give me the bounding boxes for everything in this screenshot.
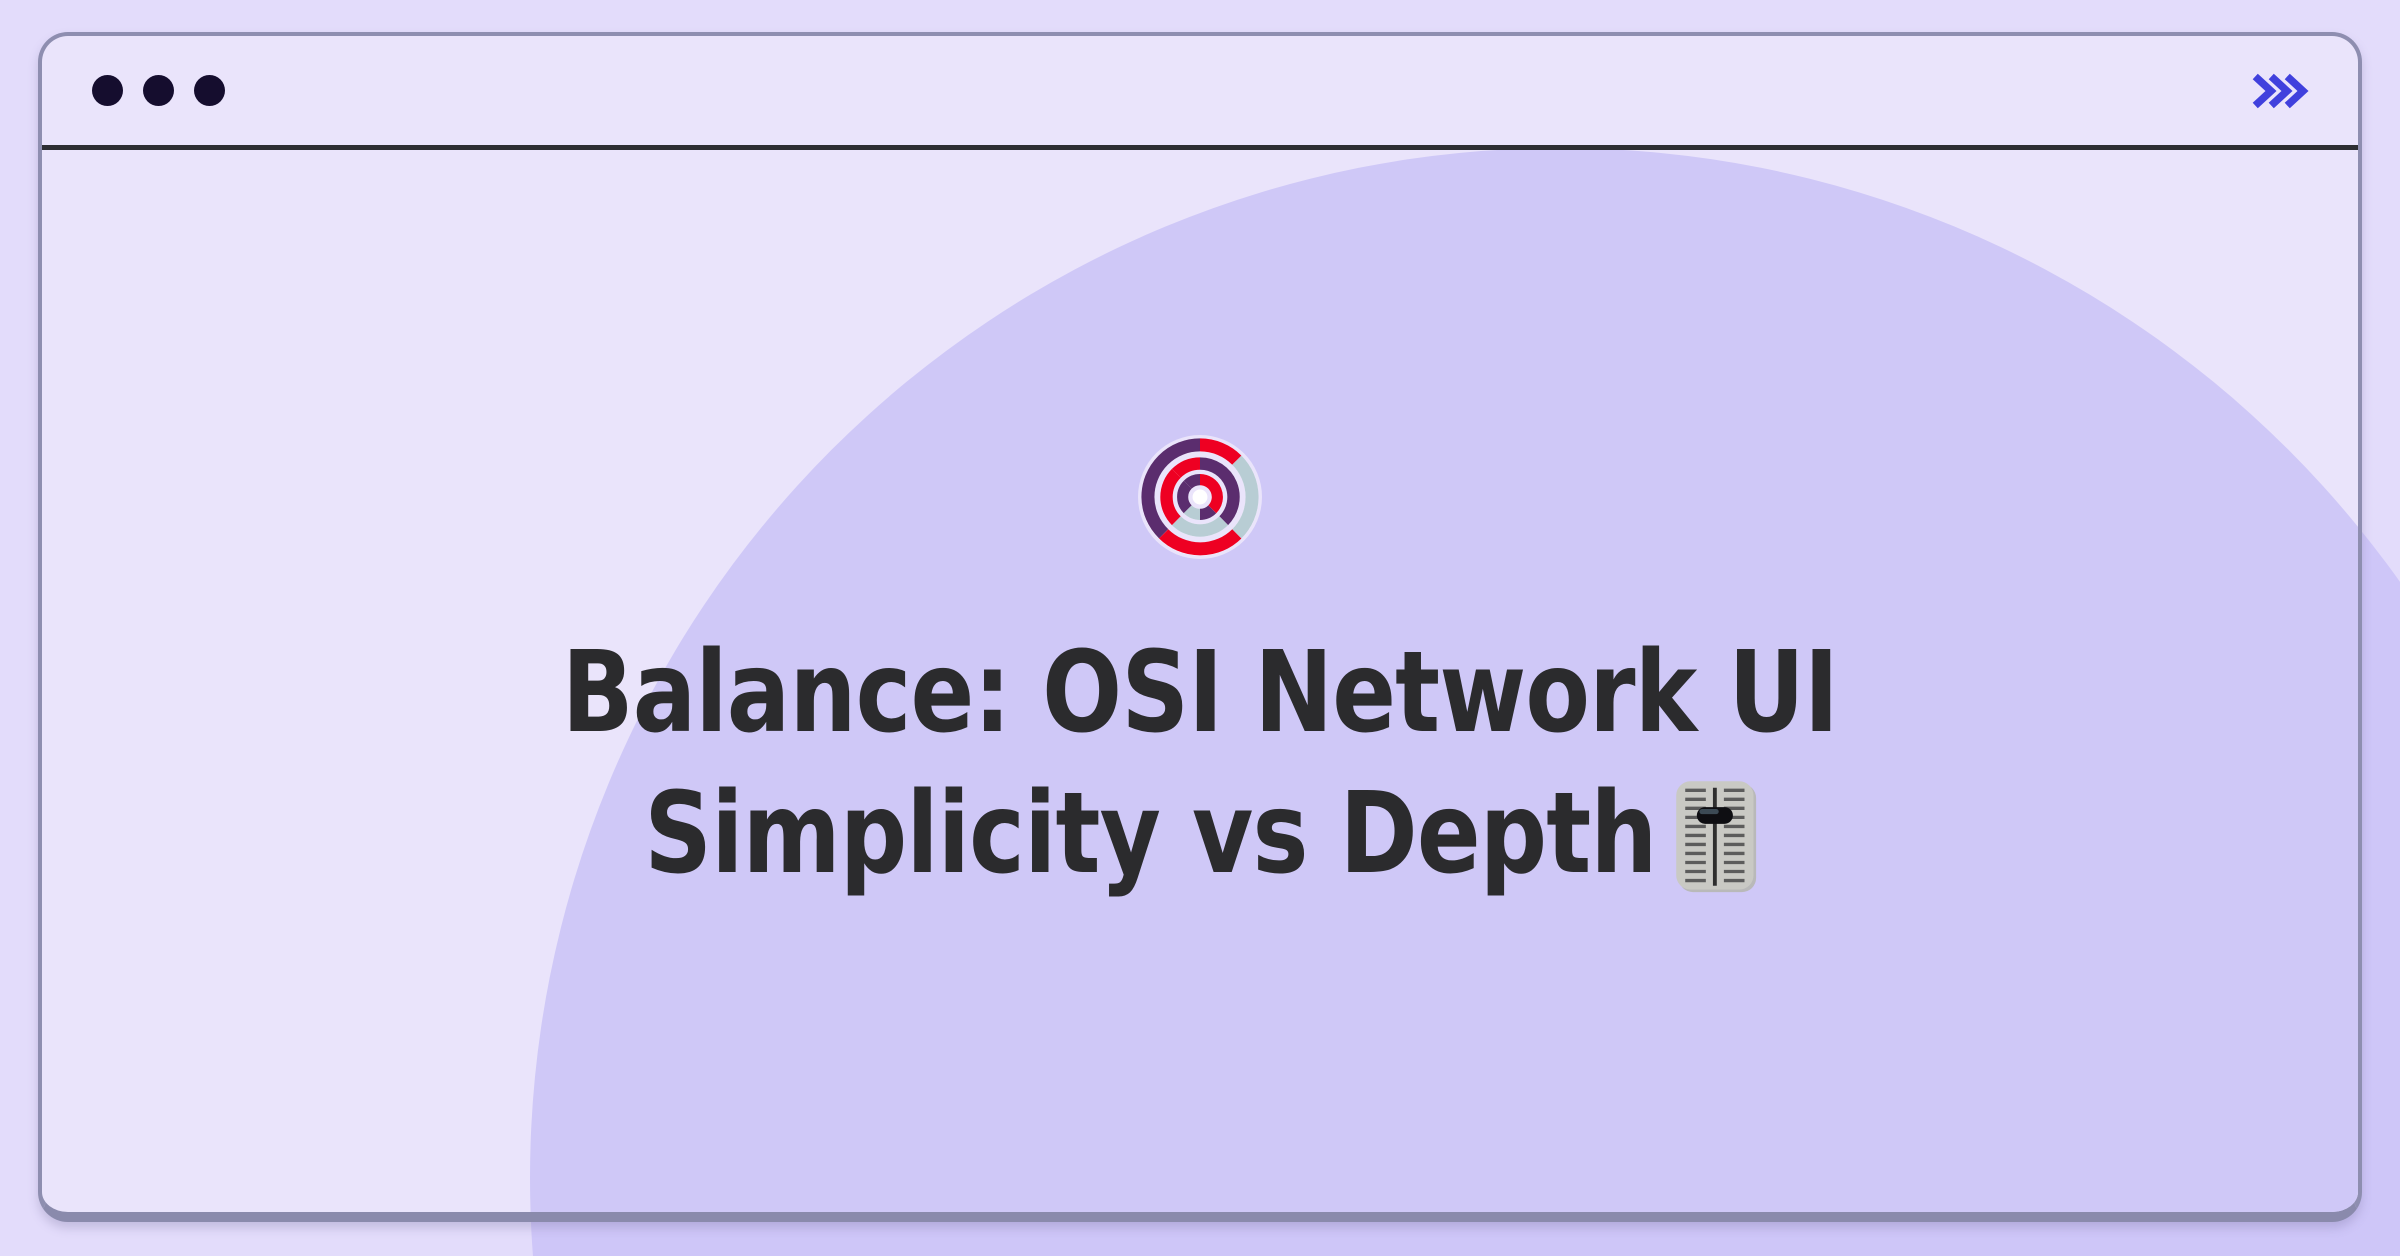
level-slider-icon	[1671, 780, 1763, 896]
page-title-line-1: Balance: OSI Network UI	[227, 623, 2172, 764]
page-title-line-2-wrap: Simplicity vs Depth	[227, 764, 2172, 905]
window-dot-1[interactable]	[92, 75, 123, 106]
titlebar-divider	[42, 145, 2358, 150]
window-dot-2[interactable]	[143, 75, 174, 106]
window-titlebar	[42, 36, 2358, 145]
concentric-target-rings-logo	[1138, 435, 1262, 559]
chevrons-right-icon[interactable]	[2252, 71, 2310, 111]
hero-section: Balance: OSI Network UI Simplicity vs De…	[42, 150, 2358, 1216]
window-traffic-lights	[92, 75, 225, 106]
page-background: Balance: OSI Network UI Simplicity vs De…	[0, 0, 2400, 1256]
page-title: Balance: OSI Network UI Simplicity vs De…	[227, 623, 2172, 905]
app-window: Balance: OSI Network UI Simplicity vs De…	[38, 32, 2362, 1222]
window-dot-3[interactable]	[194, 75, 225, 106]
page-title-line-2: Simplicity vs Depth	[644, 769, 1656, 899]
